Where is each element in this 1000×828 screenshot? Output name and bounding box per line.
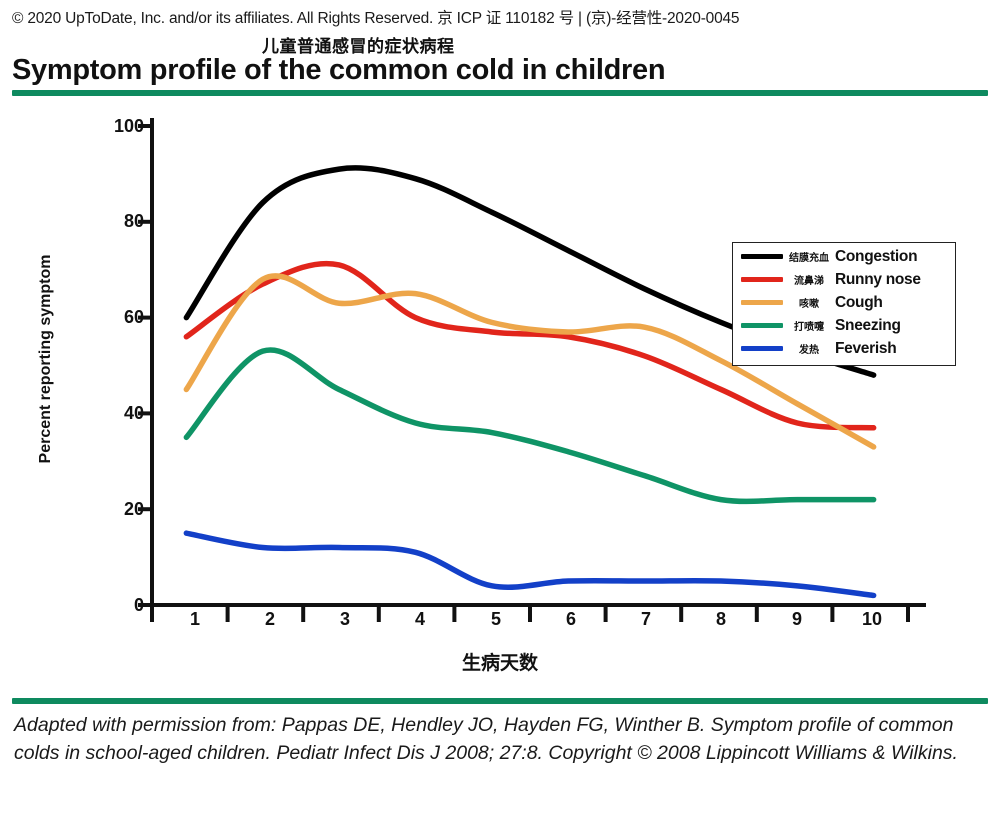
y-tick-20: 20 <box>96 499 144 520</box>
legend-swatch-cough <box>741 300 783 305</box>
x-tick-8: 8 <box>701 609 741 630</box>
x-tick-7: 7 <box>626 609 666 630</box>
x-axis-label: 生病天数 <box>0 648 1000 675</box>
divider-bottom <box>12 698 988 704</box>
legend-label-cn-congestion: 结膜充血 <box>783 249 835 264</box>
y-tick-60: 60 <box>96 307 144 328</box>
y-axis-label: Percent reporting symptom <box>37 249 55 469</box>
x-tick-9: 9 <box>777 609 817 630</box>
legend-swatch-runny-nose <box>741 277 783 282</box>
page-title: Symptom profile of the common cold in ch… <box>12 54 665 87</box>
y-tick-80: 80 <box>96 211 144 232</box>
source-footnote: Adapted with permission from: Pappas DE,… <box>14 712 982 767</box>
legend-label-cn-cough: 咳嗽 <box>783 295 835 310</box>
legend-label-en-feverish: Feverish <box>835 340 896 358</box>
x-tick-4: 4 <box>400 609 440 630</box>
legend-label-en-cough: Cough <box>835 294 883 312</box>
chart-series <box>186 168 873 596</box>
legend-swatch-feverish <box>741 346 783 351</box>
x-tick-6: 6 <box>551 609 591 630</box>
divider-top <box>12 90 988 96</box>
legend-item-feverish: 发热 Feverish <box>733 339 955 358</box>
legend-swatch-congestion <box>741 254 783 259</box>
x-tick-2: 2 <box>250 609 290 630</box>
x-tick-5: 5 <box>476 609 516 630</box>
legend-label-en-runny-nose: Runny nose <box>835 271 921 289</box>
x-tick-10: 10 <box>852 609 892 630</box>
chart-legend: 结膜充血 Congestion 流鼻涕 Runny nose 咳嗽 Cough … <box>732 242 956 366</box>
chart-plot-area: Percent reporting symptom 生病天数 100 80 60… <box>0 100 1000 690</box>
series-line-feverish <box>186 533 873 595</box>
y-tick-0: 0 <box>96 595 144 616</box>
x-tick-3: 3 <box>325 609 365 630</box>
legend-item-cough: 咳嗽 Cough <box>733 293 955 312</box>
y-tick-labels: 100 80 60 40 20 0 <box>96 100 144 690</box>
x-tick-1: 1 <box>175 609 215 630</box>
y-tick-40: 40 <box>96 403 144 424</box>
legend-label-cn-runny-nose: 流鼻涕 <box>783 272 835 287</box>
copyright-notice: © 2020 UpToDate, Inc. and/or its affilia… <box>12 6 739 28</box>
legend-label-cn-feverish: 发热 <box>783 341 835 356</box>
legend-swatch-sneezing <box>741 323 783 328</box>
y-tick-100: 100 <box>96 116 144 137</box>
legend-label-cn-sneezing: 打喷嚏 <box>783 318 835 333</box>
legend-label-en-sneezing: Sneezing <box>835 317 901 335</box>
series-line-sneezing <box>186 350 873 501</box>
legend-item-runny-nose: 流鼻涕 Runny nose <box>733 270 955 289</box>
legend-label-en-congestion: Congestion <box>835 248 917 266</box>
legend-item-congestion: 结膜充血 Congestion <box>733 247 955 266</box>
line-chart-canvas <box>0 100 1000 690</box>
legend-item-sneezing: 打喷嚏 Sneezing <box>733 316 955 335</box>
